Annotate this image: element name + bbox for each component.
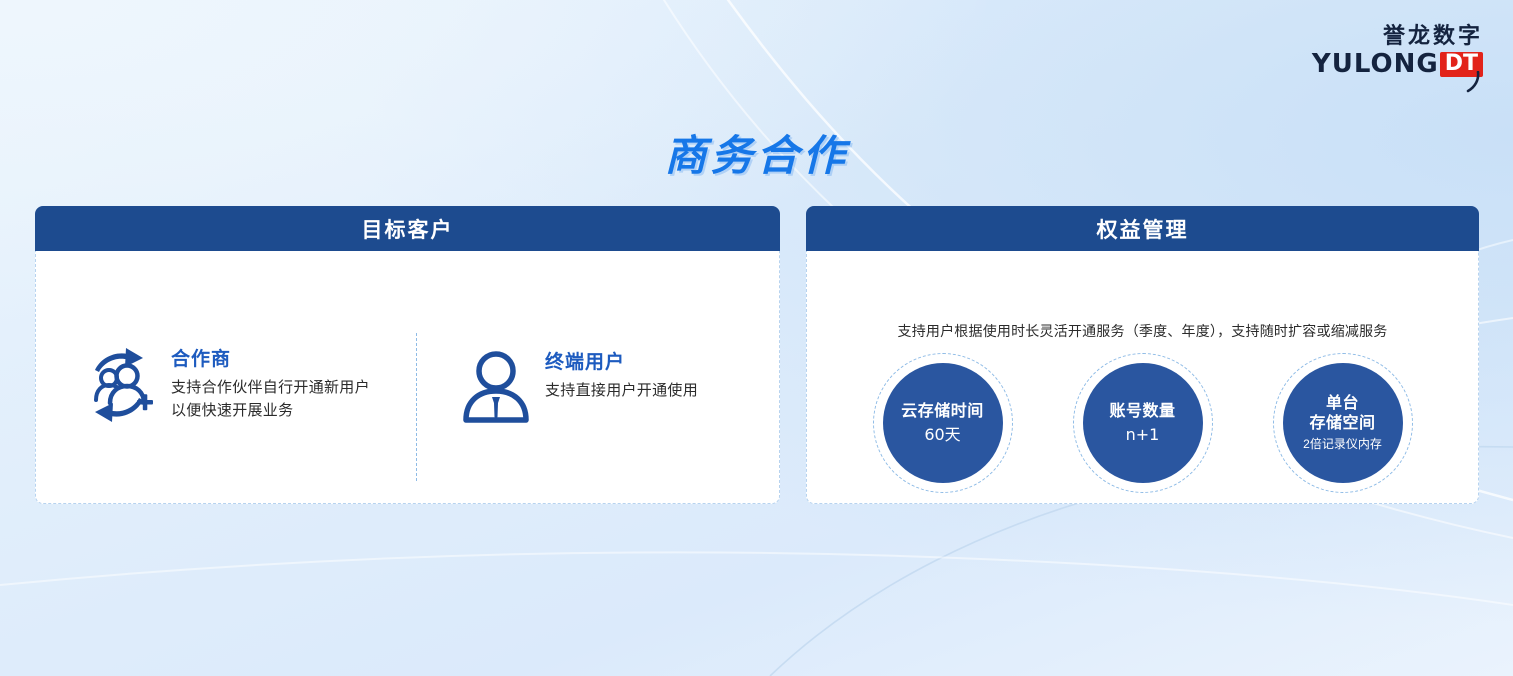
rights-bubble-per-device-storage: 单台 存储空间 2倍记录仪内存 (1273, 353, 1413, 493)
bubble-inner: 账号数量 n+1 (1083, 363, 1203, 483)
bubble-inner: 云存储时间 60天 (883, 363, 1003, 483)
card-rights-management: 权益管理 支持用户根据使用时长灵活开通服务（季度、年度），支持随时扩容或缩减服务… (806, 206, 1479, 504)
bubble-label-line1: 云存储时间 (901, 402, 984, 422)
card-body-target-customers: 合作商 支持合作伙伴自行开通新用户 以便快速开展业务 (35, 251, 780, 504)
vertical-divider (416, 333, 417, 481)
customer-text-end-user: 终端用户 支持直接用户开通使用 (545, 349, 698, 402)
card-header-target-customers: 目标客户 (35, 206, 780, 251)
customer-desc-partner-line1: 支持合作伙伴自行开通新用户 (171, 376, 370, 399)
customer-title-partner: 合作商 (171, 349, 370, 372)
rights-description: 支持用户根据使用时长灵活开通服务（季度、年度），支持随时扩容或缩减服务 (807, 321, 1478, 341)
rights-bubble-account-count: 账号数量 n+1 (1073, 353, 1213, 493)
card-body-rights-management: 支持用户根据使用时长灵活开通服务（季度、年度），支持随时扩容或缩减服务 云存储时… (806, 251, 1479, 504)
brand-logo: 誉龙数字 YULONG DT (1312, 25, 1483, 77)
logo-latin-text: YULONG (1312, 51, 1439, 77)
bubble-value: n+1 (1126, 425, 1160, 445)
bubble-label-line2: 存储空间 (1309, 414, 1375, 434)
slide-canvas: 誉龙数字 YULONG DT 商务合作 目标客户 (0, 0, 1513, 676)
user-tie-icon (461, 349, 531, 428)
logo-chinese-text: 誉龙数字 (1312, 25, 1483, 47)
bubble-label-line1: 账号数量 (1109, 402, 1175, 422)
customer-item-end-user: 终端用户 支持直接用户开通使用 (461, 349, 698, 428)
bubble-value: 60天 (924, 425, 960, 445)
signal-arc-icon (1464, 71, 1486, 95)
bubble-inner: 单台 存储空间 2倍记录仪内存 (1283, 363, 1403, 483)
customer-item-partner: 合作商 支持合作伙伴自行开通新用户 以便快速开展业务 (81, 346, 370, 429)
bubble-label-line1: 单台 (1326, 394, 1359, 414)
rights-bubble-cloud-storage-duration: 云存储时间 60天 (873, 353, 1013, 493)
customer-text-partner: 合作商 支持合作伙伴自行开通新用户 以便快速开展业务 (171, 346, 370, 422)
customer-title-end-user: 终端用户 (545, 352, 698, 375)
customer-desc-end-user-line1: 支持直接用户开通使用 (545, 379, 698, 402)
page-title: 商务合作 (0, 122, 1513, 183)
partners-refresh-add-icon (81, 346, 157, 429)
rights-bubble-group: 云存储时间 60天 账号数量 n+1 单台 存储空间 2倍记录仪内存 (807, 353, 1478, 493)
card-target-customers: 目标客户 (35, 206, 780, 504)
customer-desc-partner-line2: 以便快速开展业务 (171, 399, 370, 422)
card-header-rights-management: 权益管理 (806, 206, 1479, 251)
bubble-value: 2倍记录仪内存 (1303, 437, 1382, 452)
